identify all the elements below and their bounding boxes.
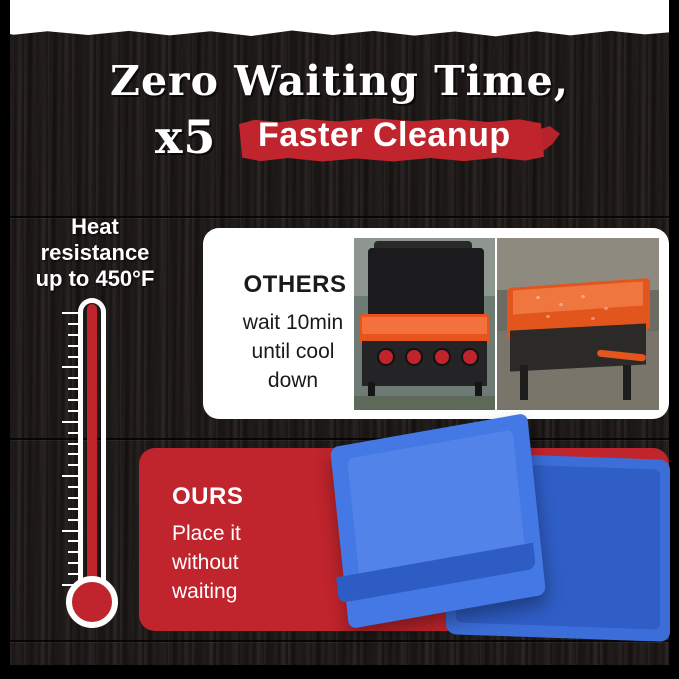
bottom-black-border (0, 665, 679, 679)
thermometer-tick (62, 366, 78, 368)
headline-line-2: x5 Faster Cleanup (0, 110, 679, 166)
griddle-with-orange-mat-photo (354, 238, 495, 410)
thermometer-tick (68, 486, 78, 488)
thermometer-tick (68, 540, 78, 542)
thermometer-tick (68, 377, 78, 379)
ours-description-line-1: Place it (172, 519, 322, 548)
thermometer-tick (68, 443, 78, 445)
thermometer-tick (68, 399, 78, 401)
ours-description: Place it without waiting (172, 519, 322, 606)
orange-griddle-cover-photo (497, 238, 659, 410)
thermometer-tick (68, 551, 78, 553)
thermometer-scale-ticks (56, 312, 78, 584)
thermometer-icon (56, 298, 136, 644)
others-description-line-1: wait 10min (218, 308, 368, 337)
others-description-line-3: down (218, 366, 368, 395)
heat-resistance-label: Heat resistance up to 450°F (10, 214, 180, 292)
heat-resistance-line-2: resistance (10, 240, 180, 266)
thermometer-bulb (66, 576, 118, 628)
heat-resistance-line-1: Heat (10, 214, 180, 240)
thermometer-tick (68, 356, 78, 358)
headline-line-1: Zero Waiting Time, (0, 56, 679, 106)
thermometer-tick (68, 519, 78, 521)
others-title: OTHERS (230, 271, 360, 299)
thermometer-tick (68, 323, 78, 325)
thermometer-tick (68, 410, 78, 412)
thermometer-tick (62, 530, 78, 532)
thermometer-tick (68, 345, 78, 347)
thermometer-tick (68, 464, 78, 466)
thermometer-tick (62, 421, 78, 423)
ours-description-line-2: without (172, 548, 322, 577)
others-description-line-2: until cool (218, 337, 368, 366)
ours-title: OURS (172, 483, 302, 511)
heat-resistance-line-3: up to 450°F (10, 266, 180, 292)
thermometer-tick (68, 453, 78, 455)
thermometer-tick (62, 475, 78, 477)
product-infographic: Zero Waiting Time, x5 Faster Cleanup Hea… (0, 0, 679, 679)
thermometer-tick (68, 388, 78, 390)
thermometer-mercury-fill (87, 304, 97, 610)
thermometer-tick (68, 573, 78, 575)
headline-block: Zero Waiting Time, x5 Faster Cleanup (0, 56, 679, 166)
headline-multiplier: x5 (155, 110, 216, 164)
top-white-band (0, 0, 679, 30)
thermometer-tick (68, 334, 78, 336)
thermometer-tick (68, 562, 78, 564)
thermometer-tick (62, 312, 78, 314)
thermometer-tick (68, 508, 78, 510)
headline-faster-cleanup: Faster Cleanup (258, 116, 558, 155)
ours-description-line-3: waiting (172, 577, 322, 606)
others-description: wait 10min until cool down (218, 308, 368, 395)
thermometer-tick (68, 432, 78, 434)
thermometer-tick (68, 497, 78, 499)
